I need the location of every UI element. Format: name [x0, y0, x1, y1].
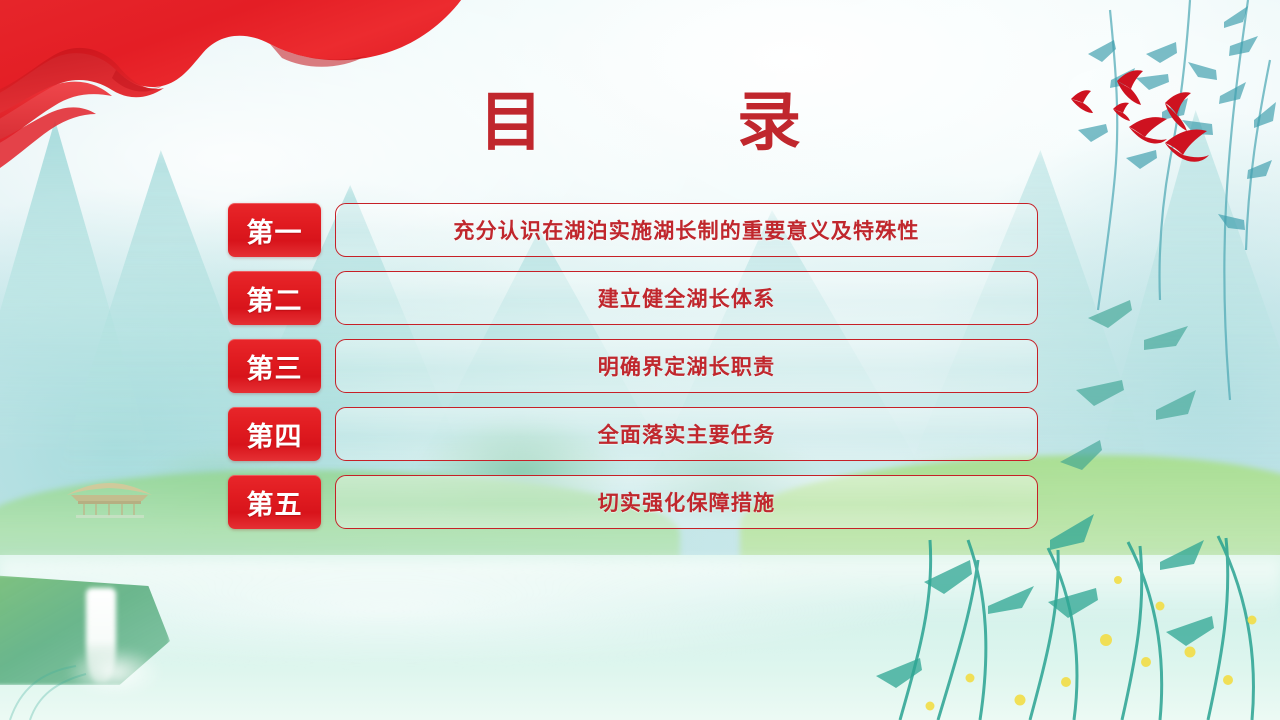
list-item[interactable]: 第二 建立健全湖长体系: [228, 271, 1038, 325]
toc-entry-3[interactable]: 明确界定湖长职责: [335, 339, 1038, 393]
list-item[interactable]: 第四 全面落实主要任务: [228, 407, 1038, 461]
toc-badge-1[interactable]: 第一: [228, 203, 321, 257]
toc-entry-2[interactable]: 建立健全湖长体系: [335, 271, 1038, 325]
list-item[interactable]: 第三 明确界定湖长职责: [228, 339, 1038, 393]
pavilion-icon: [62, 475, 157, 520]
toc-badge-5[interactable]: 第五: [228, 475, 321, 529]
toc-entry-5[interactable]: 切实强化保障措施: [335, 475, 1038, 529]
toc-badge-2[interactable]: 第二: [228, 271, 321, 325]
toc-badge-3[interactable]: 第三: [228, 339, 321, 393]
list-item[interactable]: 第五 切实强化保障措施: [228, 475, 1038, 529]
list-item[interactable]: 第一 充分认识在湖泊实施湖长制的重要意义及特殊性: [228, 203, 1038, 257]
page-title: 目 录: [0, 88, 1280, 158]
presentation-slide: 目 录 第一 充分认识在湖泊实施湖长制的重要意义及特殊性 第二 建立健全湖长体系…: [0, 0, 1280, 720]
toc-entry-4[interactable]: 全面落实主要任务: [335, 407, 1038, 461]
toc-entry-1[interactable]: 充分认识在湖泊实施湖长制的重要意义及特殊性: [335, 203, 1038, 257]
grass-blades-left: [0, 610, 230, 720]
table-of-contents: 第一 充分认识在湖泊实施湖长制的重要意义及特殊性 第二 建立健全湖长体系 第三 …: [228, 203, 1038, 529]
toc-badge-4[interactable]: 第四: [228, 407, 321, 461]
